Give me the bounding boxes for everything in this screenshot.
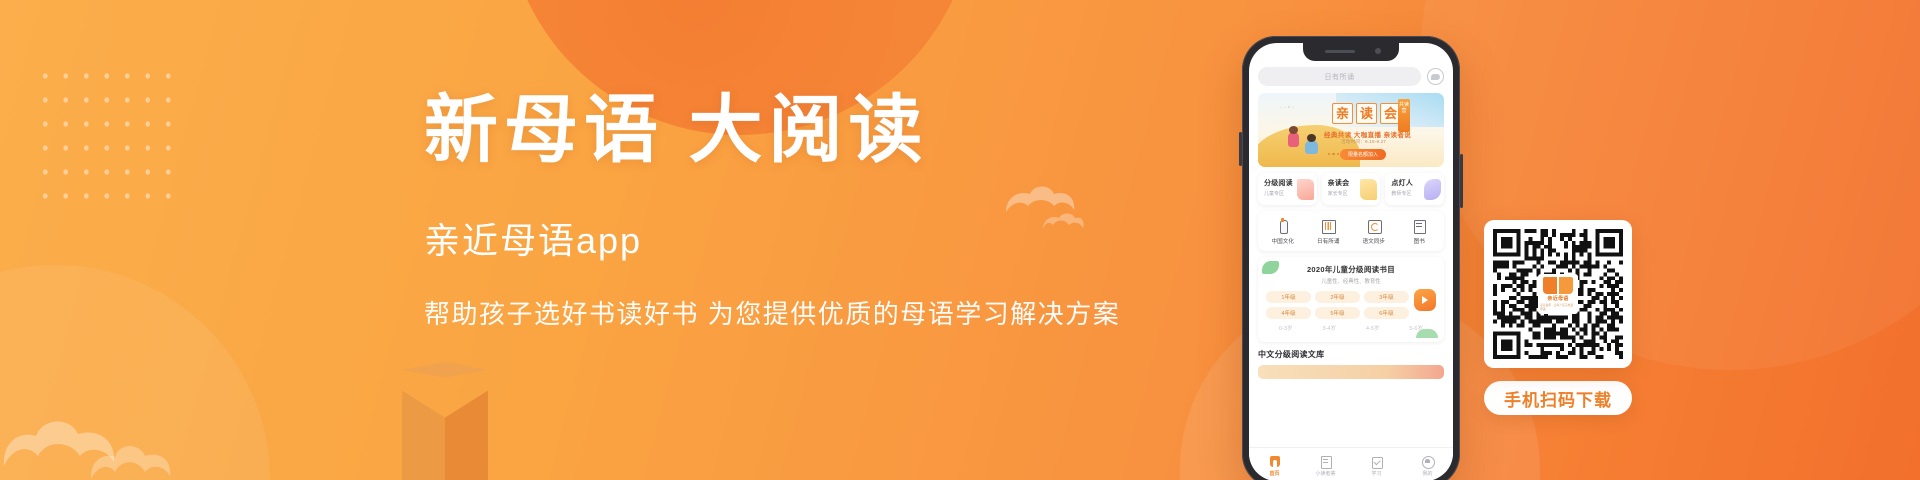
tab-label: 小读者荟 xyxy=(1300,470,1351,477)
study-icon xyxy=(1370,455,1383,468)
hero-date: 活动时间：9.16-9.27 xyxy=(1341,139,1386,145)
section-preview-strip[interactable] xyxy=(1258,365,1444,379)
quick-link-label: 语文同步 xyxy=(1351,237,1397,245)
book-shape-icon xyxy=(1360,179,1377,200)
hero-title-char: 读 xyxy=(1356,103,1377,124)
age-chip[interactable]: 0-3岁 xyxy=(1266,322,1306,334)
logo-slogan: 点亮童年 · 让每个孩子热爱母语 xyxy=(1540,303,1576,311)
booklist-title: 2020年儿童分级阅读书目 xyxy=(1266,264,1436,275)
app-booklist-card: 2020年儿童分级阅读书目 儿童性、经典性、教育性 1年级 2年级 3年级 4年… xyxy=(1258,257,1444,342)
app-hero-banner[interactable]: ··ᵕ· 亲 读 会 共读营 经典共读 大咖直播 亲读者说 活动时间：9.16-… xyxy=(1258,93,1444,167)
hero-ribbon: 共读营 xyxy=(1398,99,1410,132)
play-video-icon[interactable] xyxy=(1414,289,1436,311)
category-card-teacher[interactable]: 点灯人 教师专区 xyxy=(1385,173,1444,205)
hero-child-figure xyxy=(1288,132,1299,147)
qr-center-logo: 亲近母语 点亮童年 · 让每个孩子热爱母语 xyxy=(1538,274,1578,314)
book-logo-icon xyxy=(1543,277,1573,294)
ruyi-cloud-bottom-small-icon xyxy=(88,438,174,480)
quick-link-sync[interactable]: 语文同步 xyxy=(1351,218,1397,245)
quick-link-culture[interactable]: 中国文化 xyxy=(1260,218,1306,245)
quick-link-books[interactable]: 图书 xyxy=(1397,218,1443,245)
decorative-cube xyxy=(380,362,510,480)
tab-reader[interactable]: 小读者荟 xyxy=(1300,455,1351,477)
quick-link-recite[interactable]: 日有所诵 xyxy=(1306,218,1352,245)
tab-home[interactable]: 首页 xyxy=(1249,455,1300,477)
hero-title: 亲 读 会 xyxy=(1332,103,1401,124)
phone-notch xyxy=(1303,43,1399,61)
banner-tagline: 帮助孩子选好书读好书 为您提供优质的母语学习解决方案 xyxy=(424,294,1224,331)
hero-subtitle: 经典共读 大咖直播 亲读者说 xyxy=(1324,129,1411,139)
booklist-age-chips: 0-3岁 3-4岁 4-5岁 5-6岁 xyxy=(1266,322,1436,334)
phone-screen: 日有所诵 ··ᵕ· 亲 读 会 共读营 经典共读 大咖直播 亲读者说 xyxy=(1249,43,1453,480)
leaf-decoration-icon xyxy=(1416,329,1438,338)
hero-title-char: 亲 xyxy=(1332,103,1353,124)
quick-link-label: 中国文化 xyxy=(1260,237,1306,245)
app-quick-links: 中国文化 日有所诵 语文同步 图书 xyxy=(1258,211,1444,251)
tab-label: 首页 xyxy=(1249,470,1300,477)
grade-chip[interactable]: 3年级 xyxy=(1364,291,1409,303)
tab-label: 学习 xyxy=(1351,470,1402,477)
age-chip[interactable]: 3-4岁 xyxy=(1310,322,1350,334)
tab-label: 我的 xyxy=(1402,470,1453,477)
grade-chip[interactable]: 1年级 xyxy=(1266,291,1311,303)
app-name: 亲近母语app xyxy=(424,212,1224,264)
download-button[interactable]: 手机扫码下载 xyxy=(1484,381,1632,415)
booklist-grade-chips: 1年级 2年级 3年级 4年级 5年级 6年级 xyxy=(1266,291,1436,319)
search-input[interactable]: 日有所诵 xyxy=(1258,67,1421,86)
grade-chip[interactable]: 4年级 xyxy=(1266,307,1311,319)
culture-icon xyxy=(1275,218,1291,234)
home-icon xyxy=(1268,455,1281,468)
logo-name: 亲近母语 xyxy=(1547,295,1568,302)
app-category-cards: 分级阅读 儿童专区 亲读会 家长专区 点灯人 教师专区 xyxy=(1258,173,1444,205)
age-chip[interactable]: 4-5岁 xyxy=(1353,322,1393,334)
section-title: 中文分级阅读文库 xyxy=(1258,349,1444,360)
reader-icon xyxy=(1319,455,1332,468)
quick-link-label: 日有所诵 xyxy=(1306,237,1352,245)
banner-copy: 新母语 大阅读 亲近母语app 帮助孩子选好书读好书 为您提供优质的母语学习解决… xyxy=(424,92,1224,331)
message-icon[interactable] xyxy=(1427,68,1444,85)
phone-mockup: 日有所诵 ··ᵕ· 亲 读 会 共读营 经典共读 大咖直播 亲读者说 xyxy=(1242,36,1460,480)
promo-banner: 新母语 大阅读 亲近母语app 帮助孩子选好书读好书 为您提供优质的母语学习解决… xyxy=(0,0,1920,480)
qr-download-block: 亲近母语 点亮童年 · 让每个孩子热爱母语 手机扫码下载 xyxy=(1484,220,1632,415)
tab-study[interactable]: 学习 xyxy=(1351,455,1402,477)
book-icon xyxy=(1411,218,1427,234)
dot-grid-pattern xyxy=(35,64,175,214)
booklist-subtitle: 儿童性、经典性、教育性 xyxy=(1266,277,1436,285)
grade-chip[interactable]: 6年级 xyxy=(1364,307,1409,319)
qr-code-card: 亲近母语 点亮童年 · 让每个孩子热爱母语 xyxy=(1484,220,1632,368)
app-search-row: 日有所诵 xyxy=(1258,67,1444,86)
hero-dots xyxy=(1328,153,1339,155)
profile-icon xyxy=(1421,455,1434,468)
hero-cta-button[interactable]: 限量名额加入 xyxy=(1340,149,1386,160)
hero-birds-icon: ··ᵕ· xyxy=(1280,105,1296,111)
book-shape-icon xyxy=(1297,179,1314,200)
grade-chip[interactable]: 2年级 xyxy=(1315,291,1360,303)
sync-icon xyxy=(1366,218,1382,234)
page-title: 新母语 大阅读 xyxy=(424,92,1224,172)
category-card-parent-club[interactable]: 亲读会 家长专区 xyxy=(1322,173,1381,205)
category-card-graded-reading[interactable]: 分级阅读 儿童专区 xyxy=(1258,173,1317,205)
app-tab-bar: 首页 小读者荟 学习 我的 xyxy=(1249,447,1453,480)
hero-child-figure xyxy=(1305,140,1318,154)
recite-icon xyxy=(1320,218,1336,234)
tab-profile[interactable]: 我的 xyxy=(1402,455,1453,477)
grade-chip[interactable]: 5年级 xyxy=(1315,307,1360,319)
quick-link-label: 图书 xyxy=(1397,237,1443,245)
